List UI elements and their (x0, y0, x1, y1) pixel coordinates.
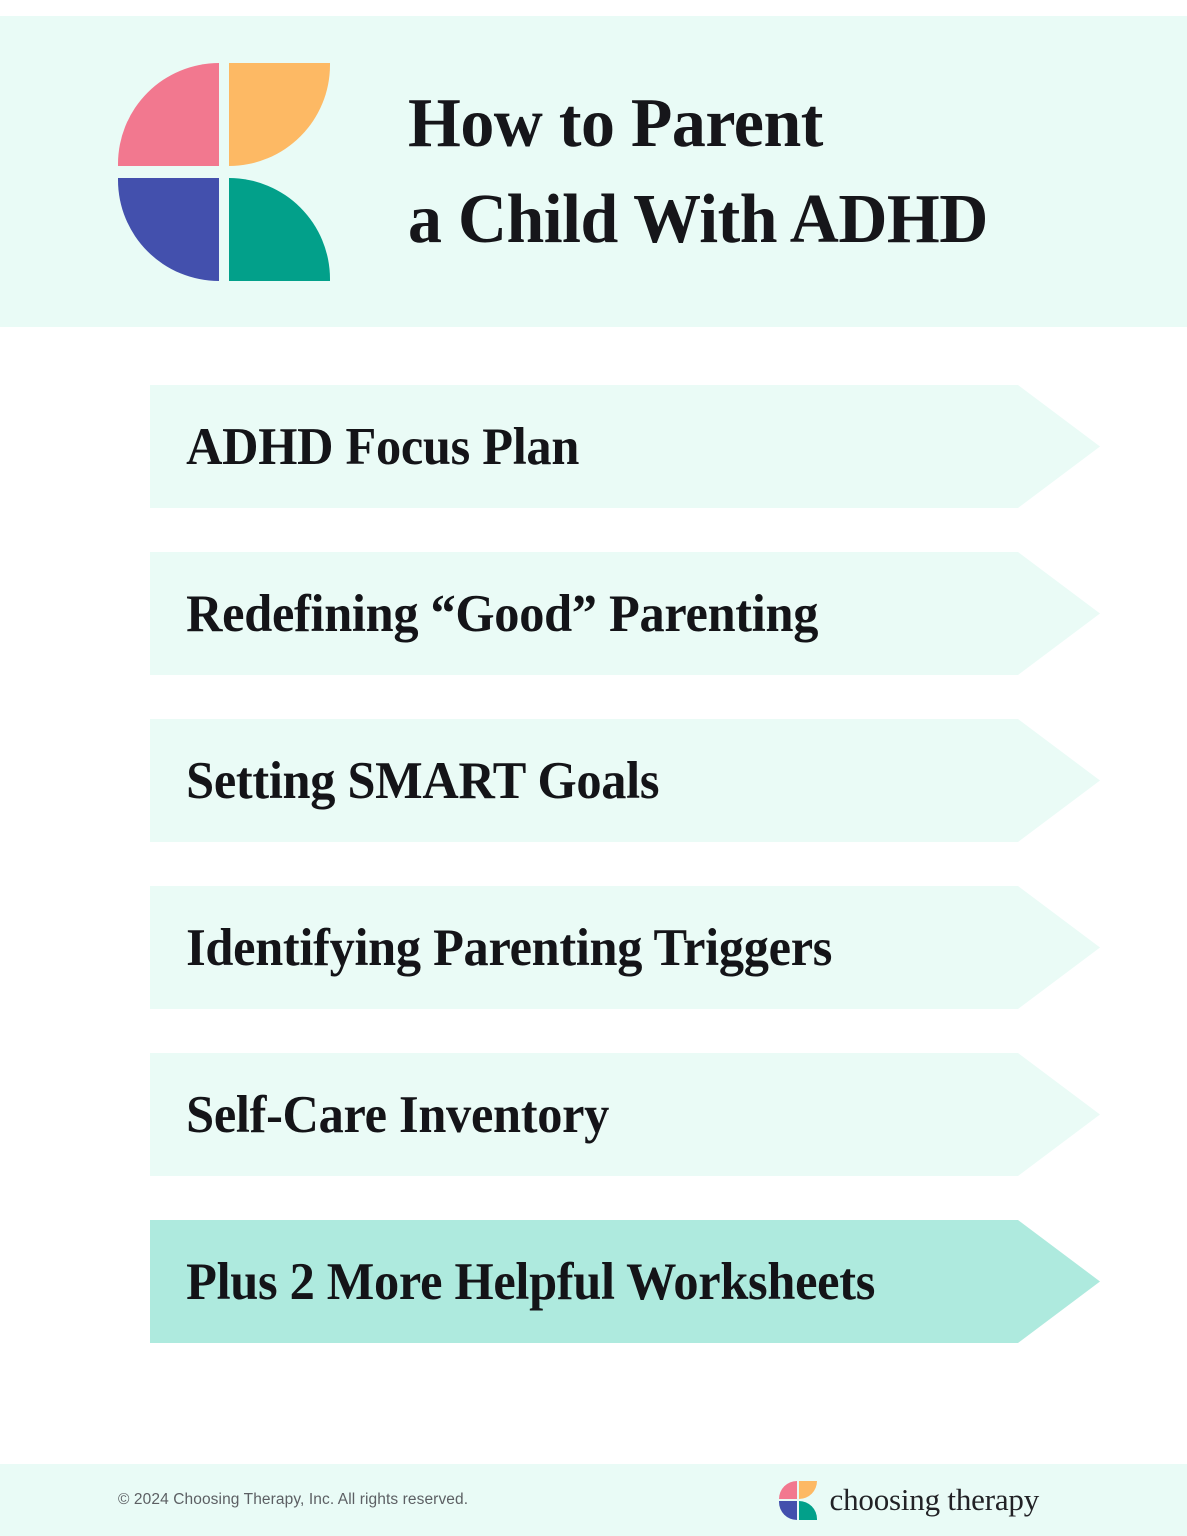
choosing-therapy-logo (118, 63, 330, 281)
logo-quadrant-bottom-left-icon (118, 178, 219, 281)
logo-quadrant-top-left-icon (118, 63, 219, 166)
logo-quadrant-bottom-right-icon (229, 178, 330, 281)
list-item-label: Identifying Parenting Triggers (150, 918, 832, 978)
list-item-label: Self-Care Inventory (150, 1085, 609, 1145)
list-item[interactable]: Self-Care Inventory (150, 1053, 1100, 1176)
logo-quadrant-top-right-icon (229, 63, 330, 166)
footer-brand: choosing therapy (779, 1481, 1039, 1520)
page-title-line-2: a Child With ADHD (408, 172, 988, 267)
list-item-label: ADHD Focus Plan (150, 417, 579, 477)
logo-quadrant-top-left-icon (779, 1481, 797, 1500)
list-item-label: Redefining “Good” Parenting (150, 584, 818, 644)
list-item-label: Setting SMART Goals (150, 751, 659, 811)
list-item[interactable]: Setting SMART Goals (150, 719, 1100, 842)
worksheet-list: ADHD Focus Plan Redefining “Good” Parent… (150, 385, 1100, 1387)
list-item[interactable]: ADHD Focus Plan (150, 385, 1100, 508)
logo-quadrant-top-right-icon (799, 1481, 817, 1500)
brand-wordmark: choosing therapy (830, 1482, 1039, 1518)
logo-quadrant-bottom-right-icon (799, 1501, 817, 1520)
logo-quadrant-bottom-left-icon (779, 1501, 797, 1520)
choosing-therapy-logo (779, 1481, 817, 1520)
list-item[interactable]: Identifying Parenting Triggers (150, 886, 1100, 1009)
footer-band: © 2024 Choosing Therapy, Inc. All rights… (0, 1464, 1187, 1536)
header-band: How to Parent a Child With ADHD (0, 16, 1187, 327)
copyright-text: © 2024 Choosing Therapy, Inc. All rights… (118, 1491, 468, 1509)
page-title: How to Parent a Child With ADHD (408, 76, 988, 266)
list-item-label: Plus 2 More Helpful Worksheets (150, 1252, 875, 1312)
page-title-line-1: How to Parent (408, 76, 988, 171)
list-item[interactable]: Redefining “Good” Parenting (150, 552, 1100, 675)
list-item-highlighted[interactable]: Plus 2 More Helpful Worksheets (150, 1220, 1100, 1343)
